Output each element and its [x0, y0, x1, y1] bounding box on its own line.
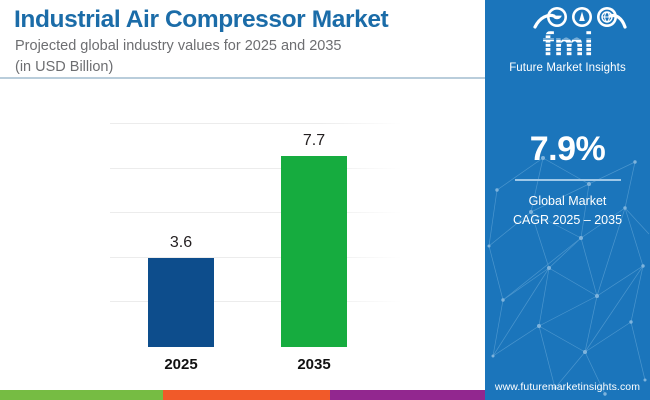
chart-gridline: [110, 168, 402, 169]
fmi-wordmark: fmi: [542, 26, 593, 60]
bar-category-label-2025: 2025: [164, 356, 197, 373]
subtitle-line-2: (in USD Billion): [15, 57, 470, 78]
cagr-block: 7.9% Global Market CAGR 2025 – 2035: [485, 132, 650, 230]
brand-panel: fmi Future Market Insights 7.9% Global M…: [485, 0, 650, 400]
page-title: Industrial Air Compressor Market: [14, 6, 474, 33]
strip-segment-orange: [163, 390, 330, 400]
page-subtitle: Projected global industry values for 202…: [15, 36, 470, 77]
bar-category-label-2035: 2035: [297, 356, 330, 373]
bar-value-label-2035: 7.7: [303, 132, 325, 150]
bar-value-label-2025: 3.6: [170, 234, 192, 252]
chart-gridline: [110, 212, 402, 213]
subtitle-line-1: Projected global industry values for 202…: [15, 36, 470, 57]
bar-2035[interactable]: 7.72035: [281, 156, 347, 347]
header-divider: [0, 77, 485, 79]
fmi-tagline: Future Market Insights: [485, 62, 650, 74]
website-url[interactable]: www.futuremarketinsights.com: [485, 381, 650, 393]
logo-badge-icons: [547, 7, 617, 27]
chart-gridline: [110, 123, 402, 124]
cagr-divider: [515, 179, 621, 181]
fmi-logo: fmi Future Market Insights: [485, 6, 650, 84]
cagr-label-line-2: CAGR 2025 – 2035: [485, 211, 650, 230]
fmi-logo-icon: fmi: [502, 6, 634, 60]
plot-area: 3.620257.72035: [0, 82, 485, 382]
cagr-value: 7.9%: [485, 132, 650, 166]
content-pane: Industrial Air Compressor Market Project…: [0, 0, 485, 400]
strip-segment-green: [0, 390, 163, 400]
bar-rect-2035: [281, 156, 347, 347]
bar-2025[interactable]: 3.62025: [148, 258, 214, 347]
bar-chart: 3.620257.72035: [0, 82, 485, 382]
bar-rect-2025: [148, 258, 214, 347]
infographic-root: Industrial Air Compressor Market Project…: [0, 0, 650, 400]
cagr-label-line-1: Global Market: [485, 192, 650, 211]
svg-text:fmi: fmi: [542, 26, 593, 60]
strip-segment-purple: [330, 390, 485, 400]
